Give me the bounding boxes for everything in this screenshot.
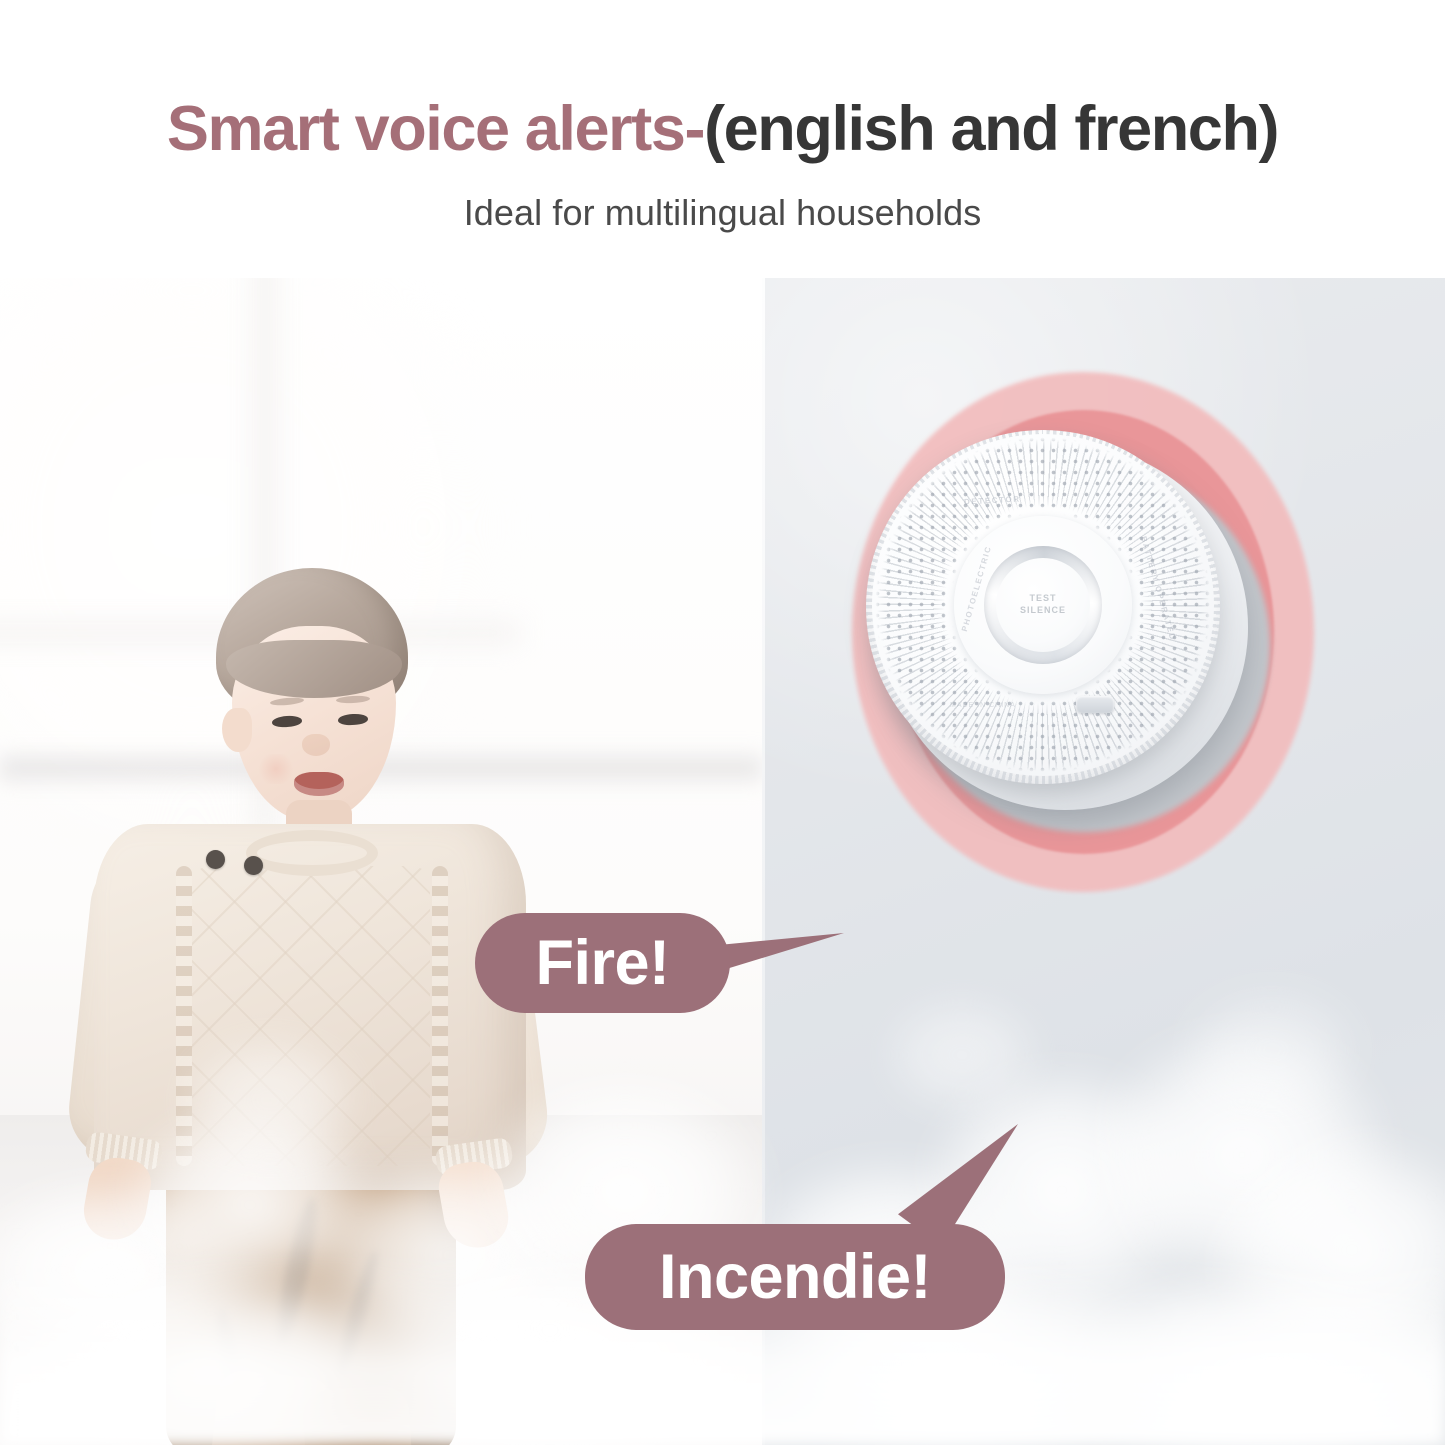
child-nose — [302, 734, 330, 756]
page-subtitle: Ideal for multilingual households — [0, 192, 1445, 234]
sweater-shoulder-button — [206, 850, 225, 869]
detector-button-label-silence: SILENCE — [1020, 606, 1066, 616]
scene-photo: DETECTOR PHOTOELECTRIC BATTERY OPERATED … — [0, 278, 1445, 1445]
speech-bubble-english[interactable]: Fire! — [475, 913, 730, 1013]
sweater-cable-right — [432, 866, 448, 1166]
child-cheek — [256, 754, 296, 784]
detector-side-button[interactable] — [1076, 696, 1114, 713]
detector-arc-bottom-label: MADE IN CHINA — [950, 702, 1016, 709]
sweater-collar — [246, 830, 378, 876]
detector-button-label-test: TEST — [1029, 594, 1056, 604]
product-feature-image: Smart voice alerts-(english and french) … — [0, 0, 1445, 1445]
page-title-secondary: (english and french) — [704, 94, 1278, 164]
sweater-shoulder-button — [244, 856, 263, 875]
page-title-primary: Smart voice alerts- — [167, 94, 704, 164]
detector-front-face: DETECTOR PHOTOELECTRIC BATTERY OPERATED … — [872, 434, 1214, 776]
speech-bubble-french[interactable]: Incendie! — [585, 1224, 1005, 1330]
header-block: Smart voice alerts-(english and french) … — [0, 0, 1445, 278]
sweater-knit-pattern — [192, 866, 430, 1166]
child-mouth — [294, 772, 344, 796]
sweater-cable-left — [176, 866, 192, 1166]
detector-test-silence-button[interactable]: TEST SILENCE — [996, 558, 1090, 652]
page-title: Smart voice alerts-(english and french) — [0, 96, 1445, 162]
smoke-detector-device: DETECTOR PHOTOELECTRIC BATTERY OPERATED … — [838, 338, 1328, 958]
child-left-hand — [79, 1153, 154, 1245]
child-ear — [222, 708, 252, 752]
